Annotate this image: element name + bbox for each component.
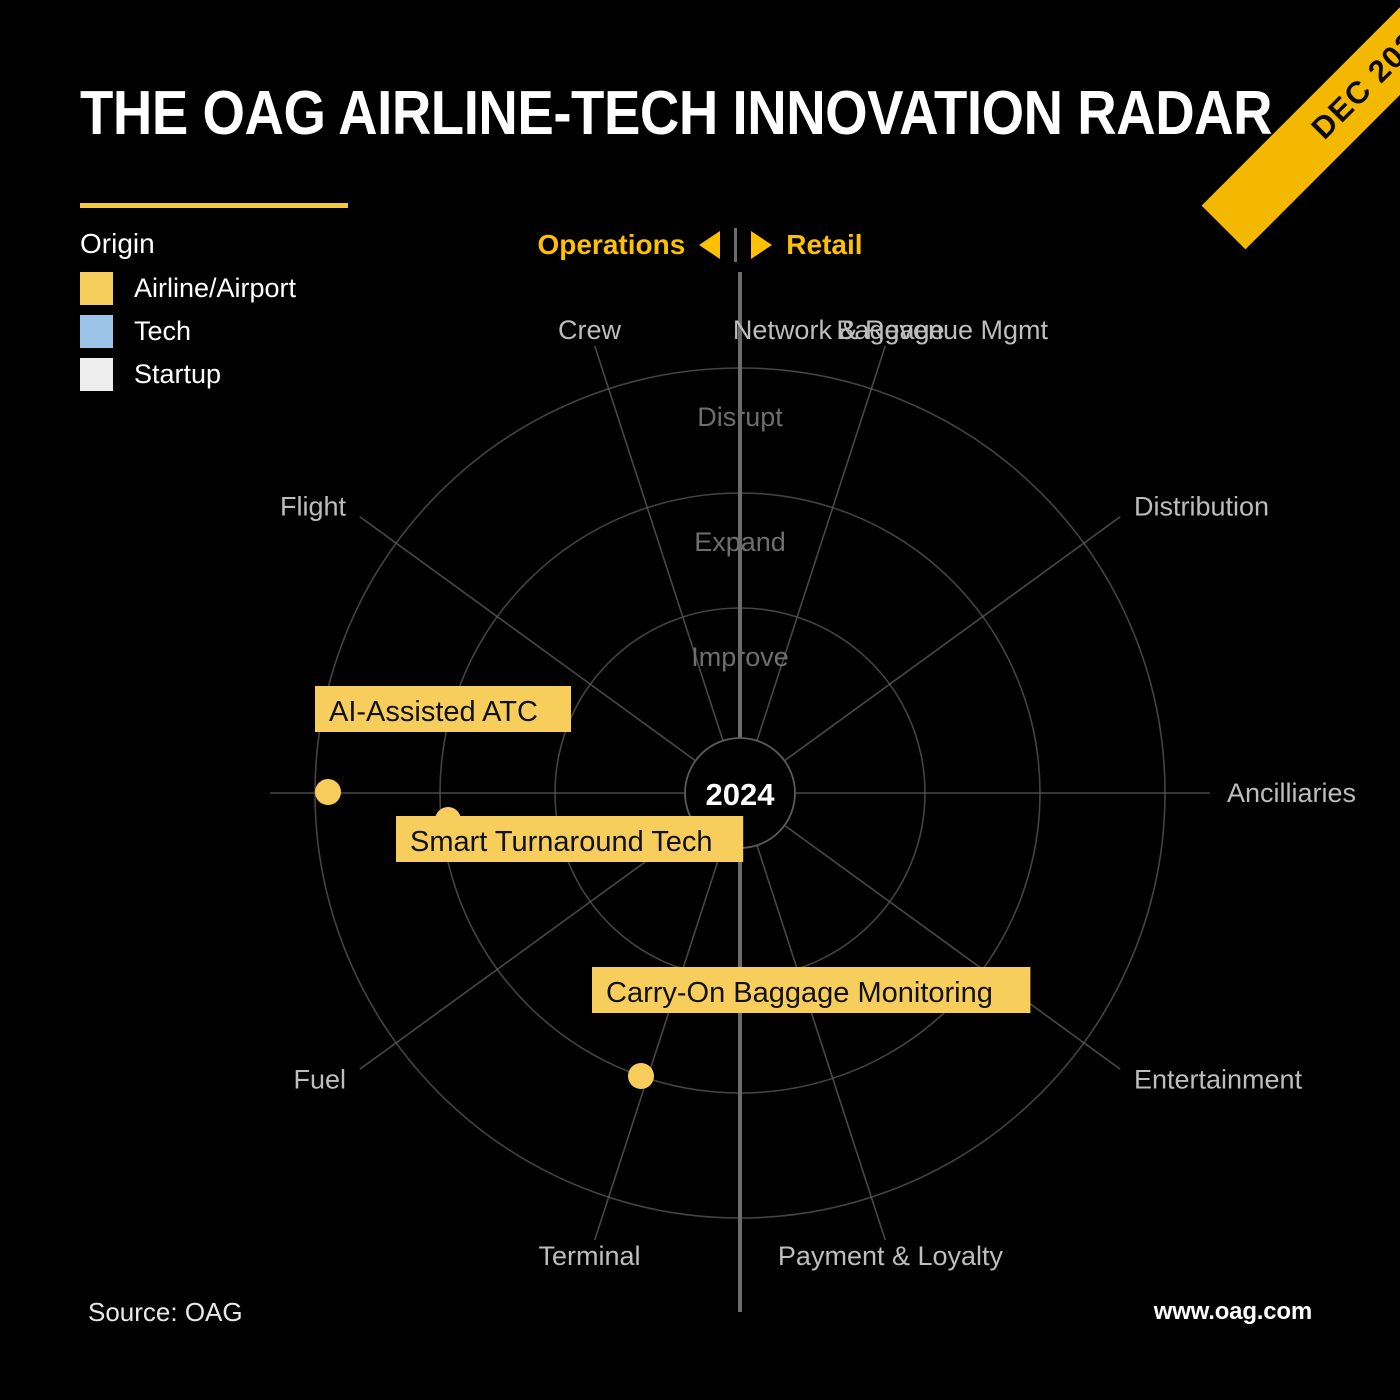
legend-label-startup: Startup [134,359,221,390]
triangle-left-icon [699,231,720,259]
radar-sector-label-network-revenue-mgmt: Network & Revenue Mgmt [733,315,1049,345]
axis-direction-header: Operations Retail [0,228,1400,262]
legend-item-airline-airport: Airline/Airport [80,272,296,305]
radar-ring-label-improve: Improve [691,642,789,672]
footer-website[interactable]: www.oag.com [1154,1298,1312,1326]
radar-sector-label-flight: Flight [280,492,347,522]
radar-spoke-5 [595,845,723,1240]
legend-item-tech: Tech [80,315,296,348]
axis-separator [734,228,737,262]
innovation-radar-chart: 2024 ImproveExpandDisrupt BaggageCrewFli… [0,0,1400,1400]
axis-label-operations: Operations [537,229,685,261]
radar-sector-label-ancilliaries: Ancilliaries [1227,778,1356,808]
radar-spoke-4 [757,845,885,1240]
radar-spoke-1 [784,517,1120,761]
radar-spoke-3 [784,825,1120,1069]
radar-ring-label-disrupt: Disrupt [697,402,783,432]
radar-center-label: 2024 [706,777,776,812]
legend-item-startup: Startup [80,358,296,391]
radar-point-dot-smart-turnaround-tech[interactable] [435,807,461,833]
radar-sector-label-fuel: Fuel [293,1064,346,1094]
radar-points-group: AI-Assisted ATCSmart Turnaround TechCarr… [315,686,1030,1089]
radar-point-carry-on-baggage-monitoring[interactable]: Carry-On Baggage Monitoring [592,967,1030,1089]
radar-point-dot-ai-assisted-atc[interactable] [315,779,341,805]
footer-source: Source: OAG [88,1297,243,1328]
legend-swatch-tech [80,315,113,348]
radar-point-dot-carry-on-baggage-monitoring[interactable] [628,1063,654,1089]
radar-ring-label-expand: Expand [694,527,786,557]
radar-sector-label-crew: Crew [558,315,622,345]
legend-swatch-startup [80,358,113,391]
axis-label-retail: Retail [786,229,862,261]
radar-point-label-carry-on-baggage-monitoring: Carry-On Baggage Monitoring [606,977,993,1009]
radar-point-label-smart-turnaround-tech: Smart Turnaround Tech [410,826,713,858]
legend-swatch-airline-airport [80,272,113,305]
radar-sector-label-terminal: Terminal [538,1241,640,1271]
triangle-right-icon [751,231,772,259]
legend-label-tech: Tech [134,316,191,347]
radar-sector-label-payment-loyalty: Payment & Loyalty [778,1241,1004,1271]
radar-sector-label-entertainment: Entertainment [1134,1064,1303,1094]
radar-point-label-ai-assisted-atc: AI-Assisted ATC [329,696,538,728]
legend-label-airline-airport: Airline/Airport [134,273,296,304]
radar-sector-label-distribution: Distribution [1134,492,1269,522]
